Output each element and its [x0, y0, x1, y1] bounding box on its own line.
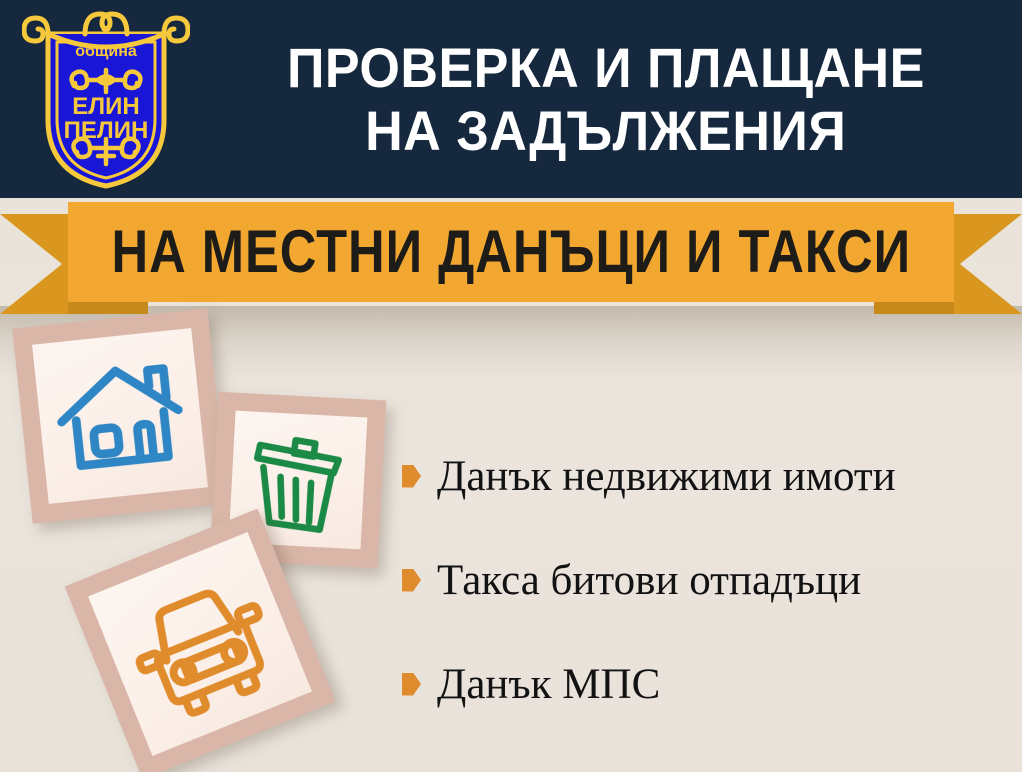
header-banner: община ЕЛИН ПЕЛИН ПРОВЕРКА И ПЛАЩАНЕ НА … — [0, 0, 1022, 198]
arrow-bullet-icon — [402, 569, 421, 592]
stamp-paper — [32, 328, 208, 504]
page-title: ПРОВЕРКА И ПЛАЩАНЕ НА ЗАДЪЛЖЕНИЯ — [196, 0, 1016, 198]
stamp-paper — [88, 532, 312, 756]
logo-text-top: община — [75, 43, 137, 60]
list-item-label: Данък МПС — [437, 663, 660, 706]
list-item-label: Данък недвижими имоти — [437, 455, 896, 498]
coat-of-arms-icon: община ЕЛИН ПЕЛИН — [22, 8, 190, 190]
stamp-frame — [12, 308, 227, 523]
ribbon-face: НА МЕСТНИ ДАНЪЦИ И ТАКСИ — [68, 202, 954, 302]
arrow-bullet-icon — [402, 465, 421, 488]
house-icon — [32, 328, 208, 504]
page-title-line-1: ПРОВЕРКА И ПЛАЩАНЕ — [287, 36, 925, 99]
ribbon-label: НА МЕСТНИ ДАНЪЦИ И ТАКСИ — [111, 217, 911, 286]
logo-text-line1: ЕЛИН — [72, 93, 139, 120]
logo-text-line2: ПЕЛИН — [64, 117, 149, 144]
municipality-logo: община ЕЛИН ПЕЛИН — [22, 8, 190, 190]
subtitle-ribbon: НА МЕСТНИ ДАНЪЦИ И ТАКСИ — [0, 196, 1022, 316]
car-front-icon — [88, 532, 312, 756]
list-item[interactable]: Данък МПС — [402, 632, 1014, 736]
poster-canvas: община ЕЛИН ПЕЛИН ПРОВЕРКА И ПЛАЩАНЕ НА … — [0, 0, 1022, 772]
stamp-card-property-tax — [12, 308, 227, 523]
list-item[interactable]: Данък недвижими имоти — [402, 424, 1014, 528]
page-title-line-2: НА ЗАДЪЛЖЕНИЯ — [365, 99, 846, 162]
list-item[interactable]: Такса битови отпадъци — [402, 528, 1014, 632]
arrow-bullet-icon — [402, 673, 421, 696]
list-item-label: Такса битови отпадъци — [437, 559, 861, 602]
tax-type-list: Данък недвижими имоти Такса битови отпад… — [402, 424, 1014, 736]
